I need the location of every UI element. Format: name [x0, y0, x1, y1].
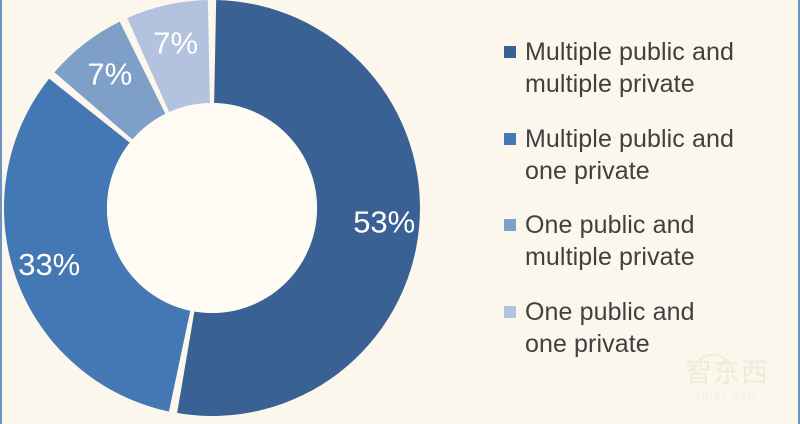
legend-swatch-icon-0 [504, 46, 516, 58]
donut-chart-svg: 53%33%7%7% [0, 0, 430, 424]
legend-item-multiple-public-multiple-private[interactable]: Multiple public and multiple private [504, 36, 794, 101]
donut-hole [107, 103, 317, 313]
legend-label-2: One public and multiple private [525, 209, 695, 274]
legend-swatch-icon-3 [504, 306, 516, 318]
legend-item-one-public-one-private[interactable]: One public and one private [504, 296, 794, 361]
chart-page: 53%33%7%7% Multiple public and multiple … [0, 0, 800, 424]
legend-swatch-icon-1 [504, 133, 516, 145]
donut-slice-label: 33% [18, 247, 80, 282]
donut-chart: 53%33%7%7% [0, 0, 430, 424]
legend-item-one-public-multiple-private[interactable]: One public and multiple private [504, 209, 794, 274]
legend-label-3: One public and one private [525, 296, 695, 361]
chart-legend: Multiple public and multiple private Mul… [504, 36, 794, 382]
watermark-url: zhidx.com [668, 390, 786, 400]
donut-slice-label: 53% [353, 204, 415, 239]
legend-label-0: Multiple public and multiple private [525, 36, 734, 101]
donut-slice-label: 7% [153, 25, 198, 60]
donut-slice-label: 7% [87, 56, 132, 91]
legend-swatch-icon-2 [504, 219, 516, 231]
legend-item-multiple-public-one-private[interactable]: Multiple public and one private [504, 123, 794, 188]
legend-label-1: Multiple public and one private [525, 123, 734, 188]
